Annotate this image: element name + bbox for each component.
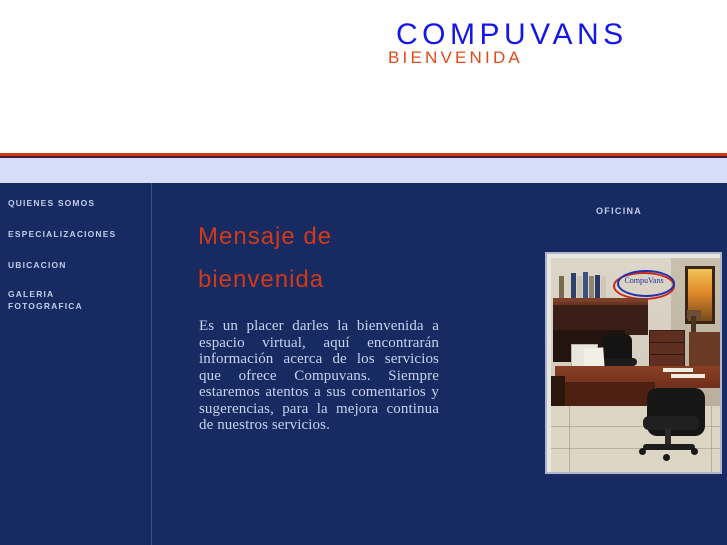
sidebar-item-label-line2: FOTOGRAFICA xyxy=(8,300,83,312)
photo-book xyxy=(583,272,588,300)
body-area: QUIENES SOMOS ESPECIALIZACIONES UBICACIO… xyxy=(0,183,727,545)
photo-book xyxy=(571,273,576,300)
photo-chair-caster xyxy=(639,448,646,455)
photo-book xyxy=(577,276,582,300)
brand-subtitle: BIENVENIDA xyxy=(388,48,523,68)
sidebar-item-label: ESPECIALIZACIONES xyxy=(8,229,116,239)
welcome-paragraph: Es un placer darles la bienvenida a espa… xyxy=(199,318,439,434)
main-content: Mensaje de bienvenida Es un placer darle… xyxy=(151,183,727,545)
photo-chair-caster xyxy=(691,448,698,455)
brand-title: COMPUVANS xyxy=(396,18,628,52)
photo-logo-text: CompuVans xyxy=(619,276,669,285)
sidebar-item-galeria-fotografica[interactable]: GALERIA FOTOGRAFICA xyxy=(8,288,83,312)
photo-foreground-chair-seat xyxy=(643,416,699,430)
sidebar-item-especializaciones[interactable]: ESPECIALIZACIONES xyxy=(8,228,116,240)
sidebar-item-label: UBICACION xyxy=(8,260,67,270)
photo-book xyxy=(595,275,600,300)
sidebar-item-label: QUIENES SOMOS xyxy=(8,198,95,208)
photo-chair-caster xyxy=(663,454,670,461)
brand-block: COMPUVANS BIENVENIDA xyxy=(388,18,688,78)
page-title-line1: Mensaje de xyxy=(198,223,332,250)
sidebar-item-label: GALERIA xyxy=(8,288,83,300)
photo-book xyxy=(559,276,564,300)
photo-floor-grout xyxy=(569,406,570,472)
photo-foreground-chair-base xyxy=(643,444,695,450)
photo-side-cabinet xyxy=(649,330,685,368)
photo-cabinet-drawer-line xyxy=(650,354,684,355)
photo-cabinet-drawer-line xyxy=(650,342,684,343)
office-photo-frame: CompuVans xyxy=(545,252,722,474)
photo-document xyxy=(663,368,693,372)
page-title: Mensaje de bienvenida xyxy=(198,215,458,301)
page-root: COMPUVANS BIENVENIDA QUIENES SOMOS ESPEC… xyxy=(0,0,727,545)
office-photo: CompuVans xyxy=(551,258,720,472)
photo-book xyxy=(601,276,606,300)
sidebar-item-quienes-somos[interactable]: QUIENES SOMOS xyxy=(8,197,95,209)
site-header: COMPUVANS BIENVENIDA xyxy=(0,0,727,153)
page-title-line2: bienvenida xyxy=(198,266,324,293)
photo-desk-return xyxy=(551,376,565,408)
photo-book xyxy=(565,274,570,300)
photo-document xyxy=(671,374,705,378)
photo-caption: OFICINA xyxy=(596,206,642,216)
accent-band xyxy=(0,158,727,183)
sidebar-nav: QUIENES SOMOS ESPECIALIZACIONES UBICACIO… xyxy=(0,183,151,545)
photo-book xyxy=(589,276,594,300)
photo-floor-grout xyxy=(711,406,712,472)
sidebar-item-ubicacion[interactable]: UBICACION xyxy=(8,259,67,271)
